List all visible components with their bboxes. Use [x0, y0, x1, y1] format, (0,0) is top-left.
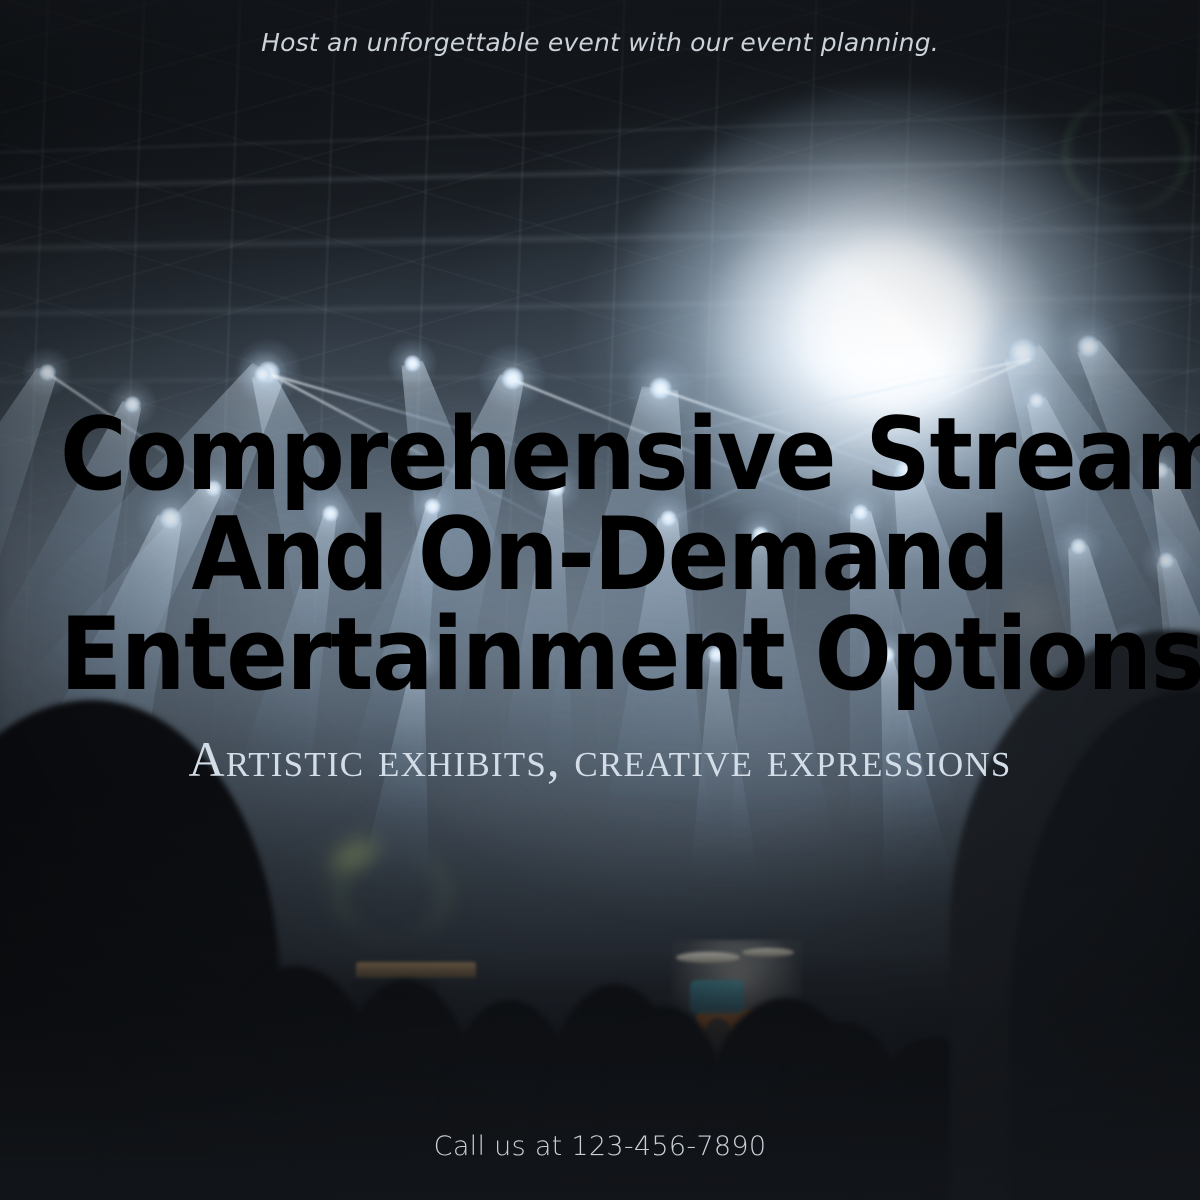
- subheadline-text: Artistic exhibits, creative expressions: [0, 730, 1200, 788]
- headline: Comprehensive Streaming And On-Demand En…: [60, 404, 1140, 704]
- tagline-text: Host an unforgettable event with our eve…: [0, 28, 1200, 57]
- headline-line-1: Comprehensive Streaming: [60, 404, 1140, 504]
- event-poster: Host an unforgettable event with our eve…: [0, 0, 1200, 1200]
- headline-line-3: Entertainment Options: [60, 604, 1140, 704]
- contact-phone-text: Call us at 123-456-7890: [0, 1131, 1200, 1162]
- headline-line-2: And On-Demand: [60, 504, 1140, 604]
- poster-content: Host an unforgettable event with our eve…: [0, 0, 1200, 1200]
